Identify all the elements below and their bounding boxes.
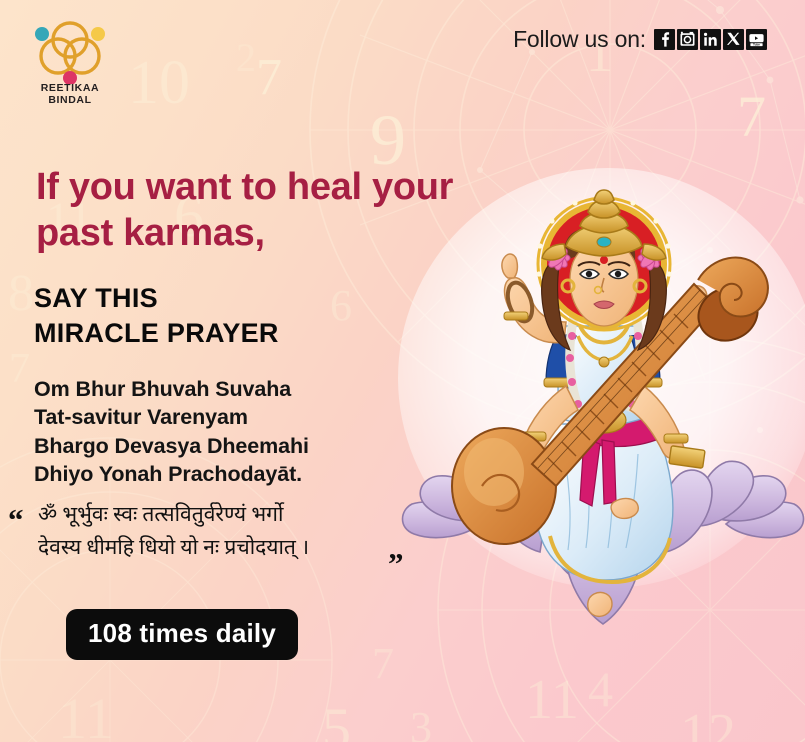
subheadline-line-2: MIRACLE PRAYER [34,316,279,351]
bg-number: 7 [737,88,766,146]
bg-number: 11 [58,690,114,742]
logo-dot-yellow [91,27,105,41]
headline-line-1: If you want to heal your [36,165,556,211]
bg-number: 7 [256,52,282,104]
mantra-line-1: Om Bhur Bhuvah Suvaha [34,375,309,403]
bindi [600,256,608,264]
bg-number: 6 [330,284,352,328]
bg-number: 11 [525,672,579,728]
follow-us-label: Follow us on: [513,26,646,53]
follow-us-bar: Follow us on: [513,26,767,53]
social-icons-row: Tube [654,29,767,50]
subheadline: SAY THIS MIRACLE PRAYER [34,281,279,350]
bg-number: 7 [9,348,30,390]
linkedin-icon[interactable] [700,29,721,50]
poster-canvas: 10 7 7 1 9 6 11 8 6 7 5 5 3 11 11 4 12 7… [0,0,805,742]
sanskrit-line-1: ॐ भूर्भुवः स्वः तत्सवितुर्वरेण्यं भर्गो [38,498,398,531]
logo-dot-teal [35,27,49,41]
x-twitter-icon[interactable] [723,29,744,50]
quote-close-icon: ” [388,548,404,579]
brand-logo[interactable]: REETIKAA BINDAL [22,12,118,106]
svg-text:Tube: Tube [753,43,760,47]
mantra-line-4: Dhiyo Yonah Prachodayāt. [34,460,309,488]
instagram-icon[interactable] [677,29,698,50]
subheadline-line-1: SAY THIS [34,281,279,316]
bg-number: 10 [128,52,190,114]
facebook-icon[interactable] [654,29,675,50]
goddess-saraswati-illustration [398,186,805,656]
mantra-transliteration: Om Bhur Bhuvah Suvaha Tat-savitur Vareny… [34,375,309,489]
triquetra-logo-icon [22,12,118,84]
brand-name: REETIKAA BINDAL [22,82,118,106]
sanskrit-line-2: देवस्य धीमहि धियो यो नः प्रचोदयात् । [38,531,398,564]
bg-number: 12 [680,706,736,742]
bg-number: 7 [372,642,394,686]
page-headline: If you want to heal your past karmas, [36,165,556,256]
sacred-book [669,446,705,469]
bg-number: 8 [8,268,34,320]
bg-number: 2 [236,38,256,78]
mantra-line-2: Tat-savitur Varenyam [34,403,309,431]
mantra-line-3: Bhargo Devasya Dheemahi [34,432,309,460]
frequency-badge: 108 times daily [66,609,298,660]
headline-line-2: past karmas, [36,211,556,257]
youtube-icon[interactable]: Tube [746,29,767,50]
quote-open-icon: “ [8,504,24,535]
bg-number: 3 [410,706,432,742]
bg-number: 5 [322,700,351,742]
bg-number: 4 [588,664,613,714]
sanskrit-text: ॐ भूर्भुवः स्वः तत्सवितुर्वरेण्यं भर्गो … [38,498,398,563]
